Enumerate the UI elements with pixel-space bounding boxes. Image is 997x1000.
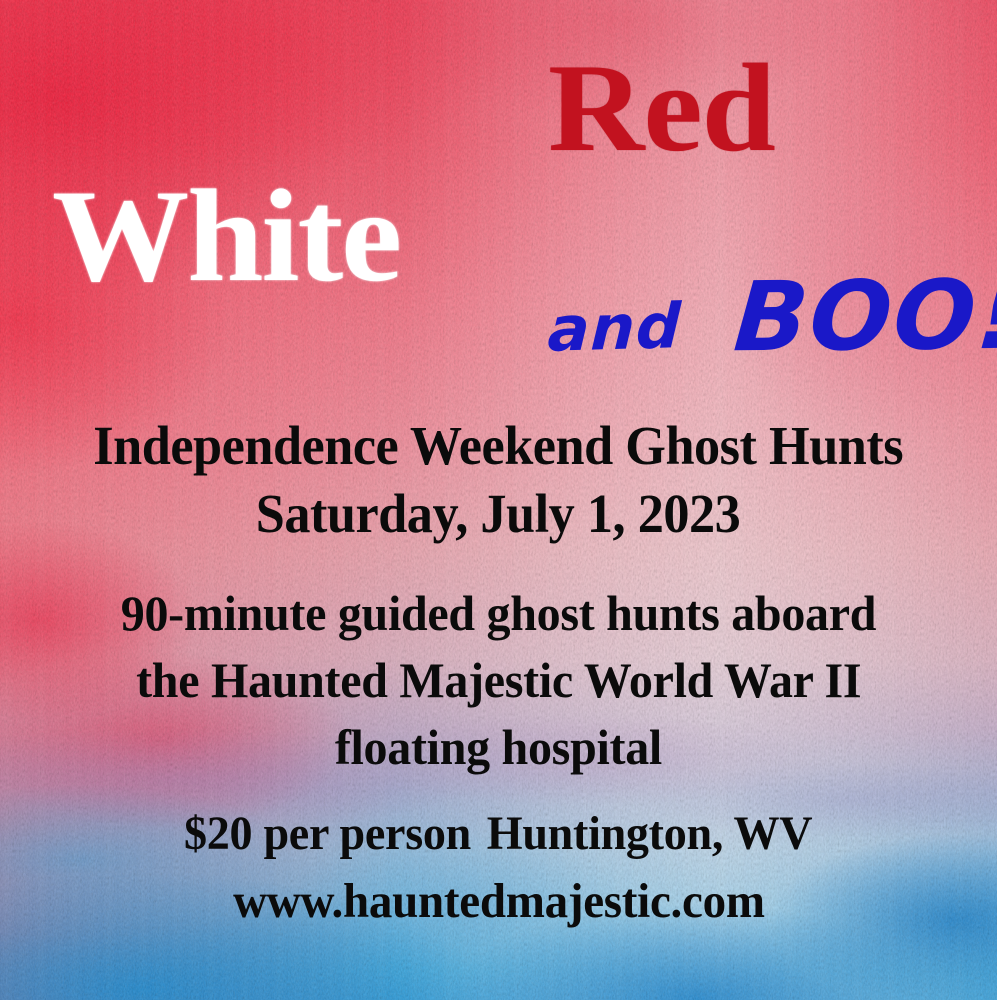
event-website[interactable]: www.hauntedmajestic.com [233,872,765,929]
event-contact-info: $20 per person Huntington, WV www.haunte… [0,806,997,940]
title-word-white: White [52,170,400,302]
poster-canvas: Red White andBOO! Independence Weekend G… [0,0,997,1000]
title-phrase-and-boo: andBOO! [548,268,997,364]
event-date: Saturday, July 1, 2023 [256,482,741,545]
title-word-and: and [547,295,683,360]
title-word-boo: BOO! [731,267,997,366]
event-headline: Independence Weekend Ghost Hunts Saturda… [0,414,997,545]
event-headline-line-1: Independence Weekend Ghost Hunts [94,414,904,477]
event-description-line-3: floating hospital [335,718,662,776]
event-location: Huntington, WV [487,806,812,861]
event-description: 90-minute guided ghost hunts aboard the … [0,584,997,785]
event-description-line-1: 90-minute guided ghost hunts aboard [121,584,876,642]
event-description-line-2: the Haunted Majestic World War II [136,651,861,709]
title-word-red: Red [548,46,775,172]
event-price: $20 per person [183,806,470,861]
